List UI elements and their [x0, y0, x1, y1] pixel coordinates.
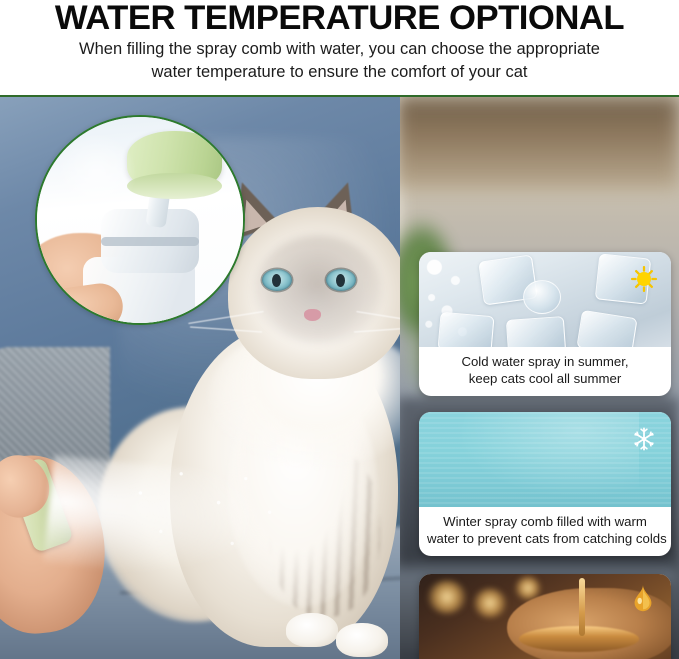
mist-droplets — [120, 457, 290, 577]
product-feature-page: WATER TEMPERATURE OPTIONAL When filling … — [0, 0, 679, 659]
caption-line-1: Winter spray comb filled with warm — [427, 513, 663, 530]
page-header: WATER TEMPERATURE OPTIONAL When filling … — [0, 0, 679, 97]
hero-photo: Cold water spray in summer, keep cats co… — [0, 97, 679, 659]
pouring-oil-stream — [579, 578, 585, 636]
warm-water-photo — [419, 412, 671, 507]
card-caption: Winter spray comb filled with warm water… — [419, 507, 671, 547]
caption-line-2: keep cats cool all summer — [427, 370, 663, 387]
ice-cubes-photo — [419, 252, 671, 347]
candle-light — [473, 588, 507, 618]
essential-oil-in-palm-photo — [419, 574, 671, 659]
product-closeup-circle — [35, 115, 245, 325]
caption-line-1: Cold water spray in summer, — [427, 353, 663, 370]
snowflake-icon — [631, 426, 657, 452]
subtitle-line-1: When filling the spray comb with water, … — [28, 38, 651, 61]
subtitle-line-2: water temperature to ensure the comfort … — [28, 61, 651, 84]
cat-paw — [286, 613, 338, 647]
cat-pupil-right — [336, 274, 345, 287]
caption-line-2: water to prevent cats from catching cold… — [427, 530, 663, 547]
candle-light — [427, 580, 467, 614]
water-highlight — [439, 412, 639, 507]
page-title: WATER TEMPERATURE OPTIONAL — [0, 0, 679, 36]
sun-icon — [631, 266, 657, 292]
inset-highlight — [57, 133, 137, 213]
feature-card-summer: Cold water spray in summer, keep cats co… — [419, 252, 671, 396]
background-shelf — [396, 97, 679, 189]
ice-cube — [437, 312, 494, 347]
inset-cap-rim — [127, 173, 222, 199]
feature-card-winter: Winter spray comb filled with warm water… — [419, 412, 671, 556]
oil-droplet-icon — [631, 584, 655, 614]
cat-pupil-left — [272, 274, 281, 287]
ice-cube — [506, 316, 566, 347]
feature-card-essential-oil: Add essential oils to care for hair — [419, 574, 671, 659]
page-subtitle: When filling the spray comb with water, … — [28, 38, 651, 84]
cat-paw — [336, 623, 388, 657]
card-caption: Cold water spray in summer, keep cats co… — [419, 347, 671, 387]
inset-bottle-ring — [101, 237, 199, 246]
cat-nose — [304, 309, 321, 321]
ice-round — [523, 280, 561, 314]
